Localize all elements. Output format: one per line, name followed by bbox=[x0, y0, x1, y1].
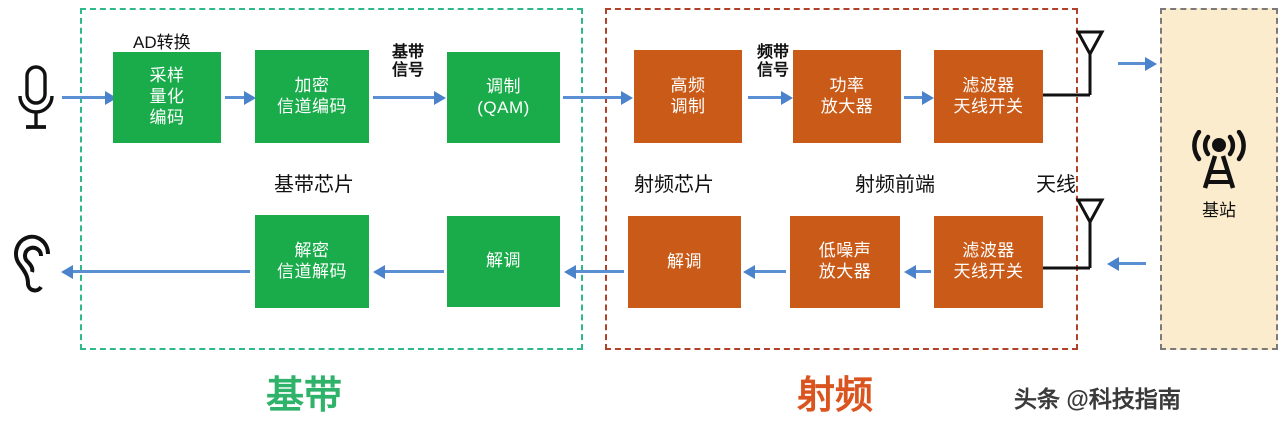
label-line: 基带 bbox=[379, 44, 437, 62]
block-power-amplifier[interactable]: 功率 放大器 bbox=[793, 50, 901, 143]
label-baseband-chip: 基带芯片 bbox=[274, 168, 354, 197]
label-base-station: 基站 bbox=[1160, 196, 1278, 221]
block-line: 放大器 bbox=[819, 262, 872, 283]
arrow-rxfilter-to-lna bbox=[915, 270, 931, 273]
cell-tower-icon bbox=[1186, 130, 1252, 192]
block-line: 调制 bbox=[477, 77, 530, 98]
diagram-canvas: 采样 量化 编码 加密 信道编码 调制 (QAM) 高频 调制 功率 放大器 滤… bbox=[0, 0, 1280, 424]
block-line: 滤波器 bbox=[954, 76, 1024, 97]
block-line: 功率 bbox=[821, 76, 874, 97]
block-line: 高频 bbox=[671, 76, 706, 97]
arrow-base-station-to-antenna bbox=[1118, 262, 1146, 265]
antenna-icon-tx bbox=[1040, 28, 1110, 100]
arrow-encrypt-to-modulation bbox=[373, 96, 435, 99]
block-decryption-channel-decoding[interactable]: 解密 信道解码 bbox=[255, 215, 369, 308]
block-line: 天线开关 bbox=[954, 262, 1024, 283]
block-line: 滤波器 bbox=[954, 241, 1024, 262]
arrow-lna-to-rxdemod bbox=[754, 270, 786, 273]
arrow-modulation-to-hf bbox=[563, 96, 622, 99]
block-filter-antenna-switch-tx[interactable]: 滤波器 天线开关 bbox=[934, 50, 1043, 143]
arrow-mic-to-sampling bbox=[62, 96, 106, 99]
arrow-decrypt-to-ear bbox=[72, 270, 250, 273]
block-line: 调制 bbox=[671, 97, 706, 118]
watermark: 头条 @科技指南 bbox=[1014, 380, 1181, 414]
block-line: 信道解码 bbox=[277, 262, 347, 283]
block-line: 加密 bbox=[277, 76, 347, 97]
block-line: 低噪声 bbox=[819, 241, 872, 262]
block-line: 量化 bbox=[150, 87, 185, 108]
label-line: 信号 bbox=[744, 62, 802, 80]
block-sampling-quantization-coding[interactable]: 采样 量化 编码 bbox=[113, 52, 221, 143]
block-filter-antenna-switch-rx[interactable]: 滤波器 天线开关 bbox=[934, 216, 1043, 308]
label-ad-conversion: AD转换 bbox=[133, 28, 191, 53]
label-baseband-signal: 基带 信号 bbox=[379, 44, 437, 81]
block-line: 放大器 bbox=[821, 97, 874, 118]
block-line: 采样 bbox=[150, 66, 185, 87]
block-line: 信道编码 bbox=[277, 97, 347, 118]
block-line: 解调 bbox=[486, 251, 521, 272]
label-band-signal: 频带 信号 bbox=[744, 44, 802, 81]
label-rf-frontend: 射频前端 bbox=[855, 168, 935, 197]
block-demodulation-baseband[interactable]: 解调 bbox=[447, 216, 560, 307]
arrow-sampling-to-encrypt bbox=[225, 96, 245, 99]
label-baseband: 基带 bbox=[266, 364, 342, 419]
label-line: 频带 bbox=[744, 44, 802, 62]
block-demodulation-rf[interactable]: 解调 bbox=[628, 216, 741, 308]
block-line: 解密 bbox=[277, 241, 347, 262]
block-line: (QAM) bbox=[477, 98, 530, 119]
arrow-pa-to-filter bbox=[904, 96, 923, 99]
arrow-hf-to-pa bbox=[748, 96, 782, 99]
block-high-frequency-modulation[interactable]: 高频 调制 bbox=[634, 50, 742, 143]
arrow-demod-to-decrypt bbox=[384, 270, 444, 273]
block-encryption-channel-coding[interactable]: 加密 信道编码 bbox=[255, 50, 369, 143]
label-line: 信号 bbox=[379, 62, 437, 80]
antenna-icon-rx bbox=[1040, 196, 1110, 276]
block-modulation-qam[interactable]: 调制 (QAM) bbox=[447, 52, 560, 143]
block-low-noise-amplifier[interactable]: 低噪声 放大器 bbox=[790, 216, 900, 308]
block-line: 解调 bbox=[667, 252, 702, 273]
microphone-icon bbox=[8, 60, 64, 140]
label-antenna: 天线 bbox=[1036, 168, 1076, 197]
block-line: 编码 bbox=[150, 108, 185, 129]
label-rf: 射频 bbox=[797, 364, 873, 419]
arrow-rxdemod-to-demod bbox=[575, 270, 624, 273]
label-rf-chip: 射频芯片 bbox=[634, 168, 714, 197]
block-line: 天线开关 bbox=[954, 97, 1024, 118]
arrow-antenna-to-base-station bbox=[1118, 62, 1146, 65]
ear-icon bbox=[8, 228, 64, 304]
